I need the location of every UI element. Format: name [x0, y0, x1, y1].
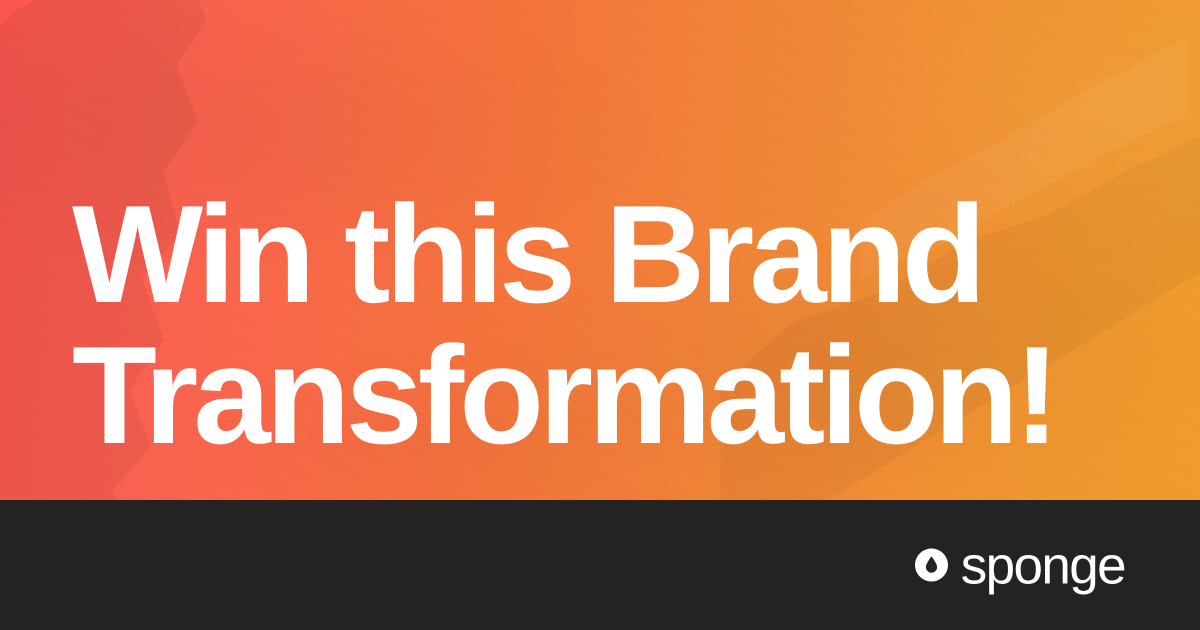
hero-section: Win this Brand Transformation! [0, 0, 1200, 500]
sponge-wordmark: sponge [961, 540, 1125, 593]
sponge-droplet-icon [915, 549, 948, 582]
headline: Win this Brand Transformation! [72, 189, 1162, 462]
promo-banner: Win this Brand Transformation! sponge [0, 0, 1200, 630]
headline-line-1: Win this Brand [72, 189, 1162, 321]
footer-bar: sponge [0, 500, 1200, 630]
headline-line-2: Transformation! [72, 330, 1162, 462]
sponge-logo[interactable]: sponge [915, 539, 1125, 592]
